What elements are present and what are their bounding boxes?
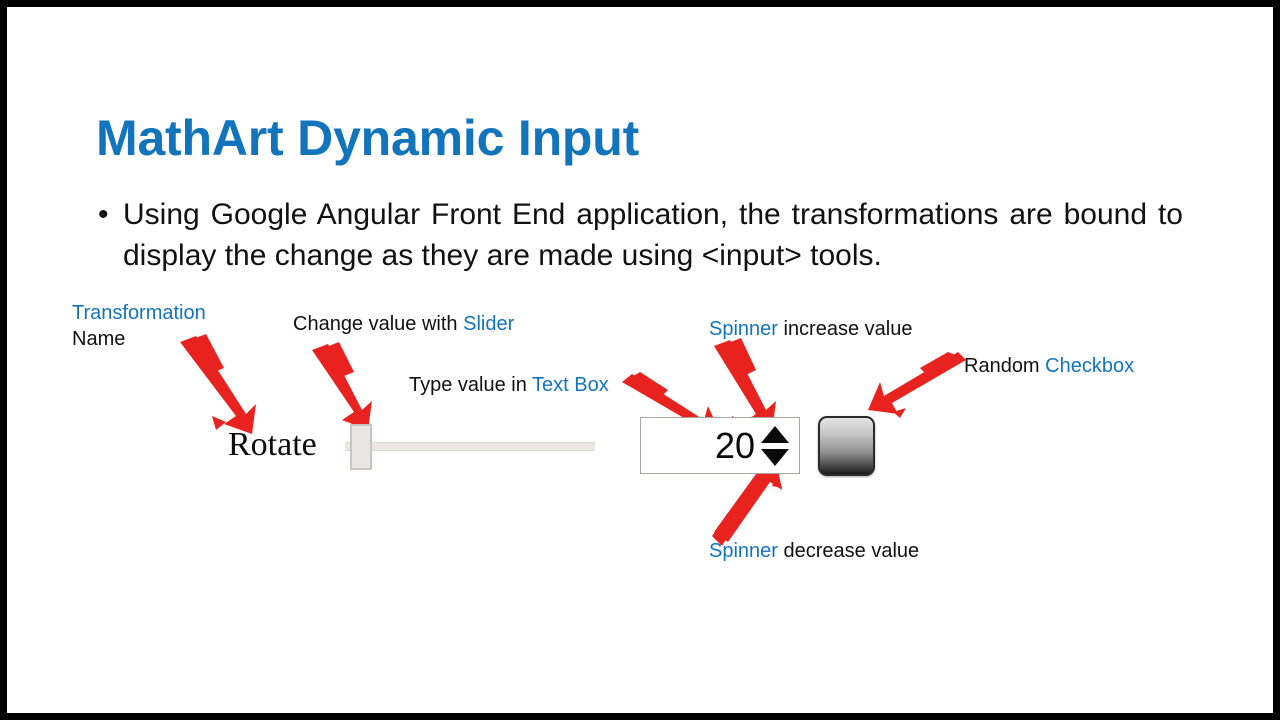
arrow-random-checkbox-icon [862,352,972,422]
callout-random-checkbox: Random Checkbox [964,353,1134,379]
bullet-marker: • [98,194,109,235]
arrow-slider-icon [300,340,390,435]
callout-slider-plain: Change value with [293,313,463,335]
callout-slider: Change value with Slider [293,311,514,337]
callout-slider-highlight: Slider [463,313,514,335]
callout-spinner-decrease-plain: decrease value [778,540,919,562]
spinner-control[interactable] [759,424,791,468]
slider-track[interactable] [345,442,595,451]
callout-text-box-plain: Type value in [409,374,532,396]
slider-thumb[interactable] [350,424,372,470]
bullet-text: Using Google Angular Front End applicati… [123,194,1183,276]
callout-text-box-highlight: Text Box [532,374,609,396]
callout-random-checkbox-plain: Random [964,355,1045,377]
callout-spinner-increase-plain: increase value [778,318,913,340]
body-bullet-item: • Using Google Angular Front End applica… [93,194,1183,276]
slide-frame-top [0,0,1280,7]
callout-spinner-increase-highlight: Spinner [709,318,778,340]
random-checkbox-control[interactable] [818,416,875,476]
callout-spinner-increase: Spinner increase value [709,316,912,342]
triangle-down-icon[interactable] [761,449,789,466]
rotate-slider[interactable] [345,424,595,470]
slide-frame-right [1273,0,1280,720]
rotate-value-text: 20 [715,424,755,468]
slide-frame-left [0,0,7,720]
callout-spinner-decrease-highlight: Spinner [709,540,778,562]
transformation-name-label: Rotate [228,424,317,466]
presentation-slide: MathArt Dynamic Input • Using Google Ang… [0,0,1280,720]
rotate-value-input[interactable]: 20 [640,417,800,474]
callout-text-box: Type value in Text Box [409,372,609,398]
callout-transformation-name: Transformation Name [72,300,206,352]
callout-transformation-plain: Name [72,328,125,350]
callout-transformation-highlight: Transformation [72,302,206,324]
slide-frame-bottom [0,713,1280,720]
callout-spinner-decrease: Spinner decrease value [709,538,919,564]
triangle-up-icon[interactable] [761,426,789,443]
page-title: MathArt Dynamic Input [96,108,639,168]
callout-random-checkbox-highlight: Checkbox [1045,355,1134,377]
